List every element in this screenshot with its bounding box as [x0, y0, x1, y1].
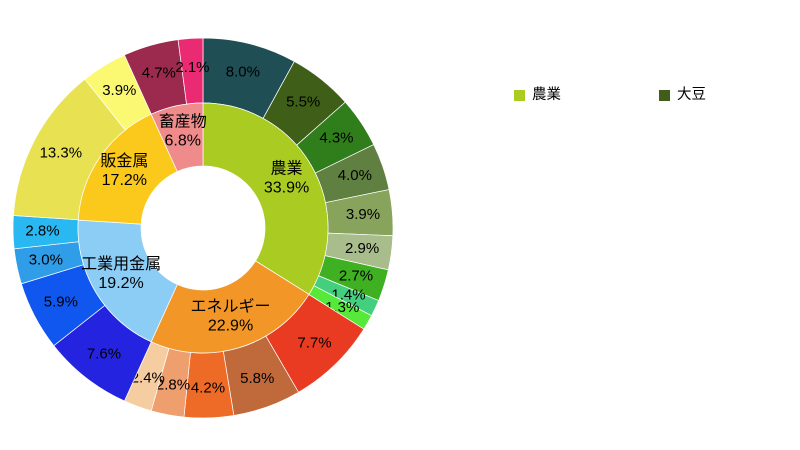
slice-value-label: 3.0% — [29, 251, 63, 268]
slice-value-label: 4.7% — [142, 65, 176, 82]
slice-value-label: 7.6% — [87, 345, 121, 362]
slice-value-label: 2.9% — [345, 240, 379, 257]
slice-value-label: 5.9% — [44, 293, 78, 310]
slice-value-label: 4.2% — [191, 379, 225, 396]
slice-value-label: 5.5% — [286, 94, 320, 111]
slice-value-label: 8.0% — [226, 63, 260, 80]
slice-name-label: エネルギー — [190, 297, 270, 315]
slice-value-label: 2.8% — [25, 222, 59, 239]
slice-value-label: 3.9% — [346, 206, 380, 223]
square-swatch — [659, 90, 670, 101]
slice-value-label: 7.7% — [297, 334, 331, 351]
slice-value-label: 33.9% — [264, 180, 309, 197]
slice-value-label: 19.2% — [98, 275, 143, 292]
slice-name-label: 工業用金属 — [81, 255, 161, 273]
donut-chart-svg[interactable]: 8.0%5.5%4.3%4.0%3.9%2.9%2.7%1.4%1.3%7.7%… — [0, 0, 500, 450]
sunburst-chart: 8.0%5.5%4.3%4.0%3.9%2.9%2.7%1.4%1.3%7.7%… — [0, 0, 500, 450]
legend-item-label: 大豆 — [677, 84, 706, 107]
slice-value-label: 5.8% — [240, 370, 274, 387]
slice-value-label: 4.3% — [319, 130, 353, 147]
square-swatch — [514, 90, 525, 101]
slice-name-label: 畜産物 — [159, 113, 207, 131]
slice-value-label: 22.9% — [208, 317, 253, 334]
slice-value-label: 13.3% — [40, 144, 83, 161]
slice-name-label: 農業 — [271, 160, 303, 178]
chart-page: 8.0%5.5%4.3%4.0%3.9%2.9%2.7%1.4%1.3%7.7%… — [0, 0, 800, 450]
slice-name-label: 販金属 — [100, 152, 148, 170]
slice-value-label: 2.7% — [339, 268, 373, 285]
chart-legend: 農業大豆コーヒー大豆油カンザスシティ小麦エネルギーWTI 原油ULS ディーゼル… — [500, 0, 800, 450]
slice-value-label: 3.9% — [102, 82, 136, 99]
legend-item[interactable]: 大豆 — [659, 84, 800, 107]
slice-value-label: 6.8% — [165, 133, 201, 150]
legend-grid: 農業大豆コーヒー大豆油カンザスシティ小麦エネルギーWTI 原油ULS ディーゼル… — [514, 84, 800, 107]
slice-value-label: 17.2% — [102, 172, 147, 189]
legend-item-label: 農業 — [532, 84, 561, 107]
legend-item[interactable]: 農業 — [514, 84, 659, 107]
slice-value-label: 4.0% — [338, 167, 372, 184]
slice-value-label: 2.1% — [175, 59, 209, 76]
